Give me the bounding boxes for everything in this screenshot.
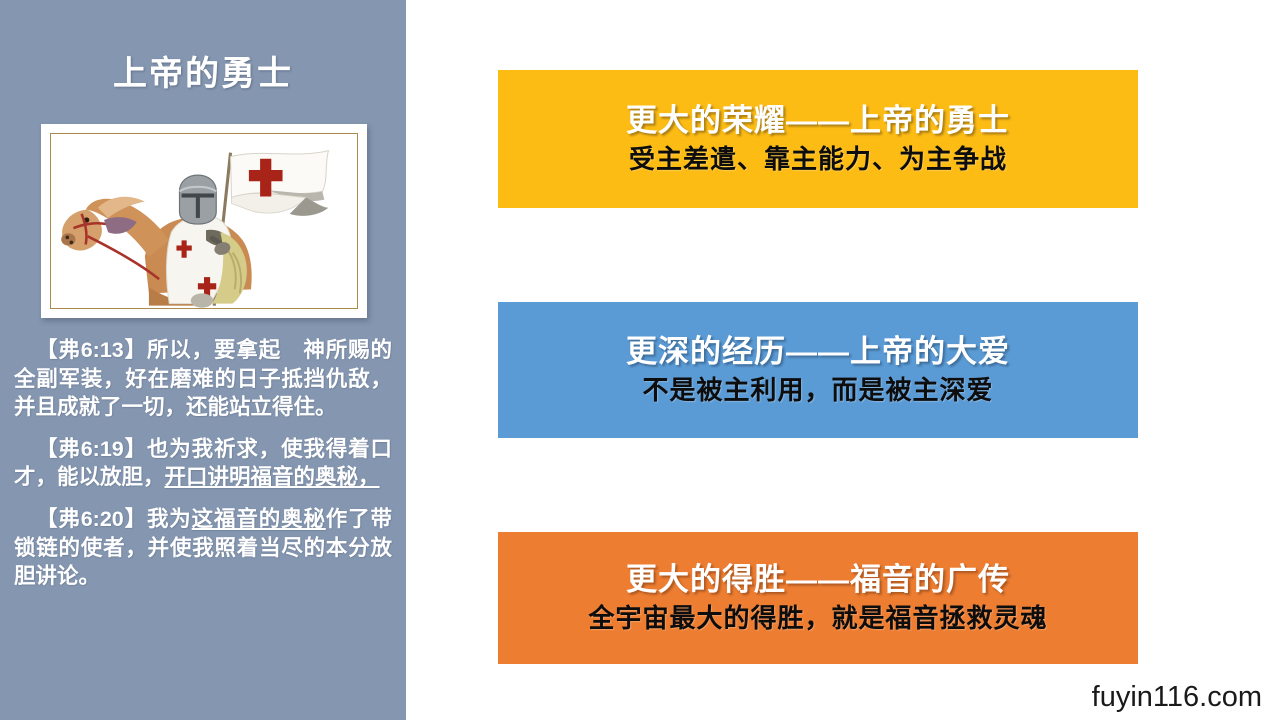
banner-victory: 更大的得胜——福音的广传 全宇宙最大的得胜，就是福音拯救灵魂 bbox=[498, 532, 1138, 664]
banner-victory-subheading: 全宇宙最大的得胜，就是福音拯救灵魂 bbox=[588, 604, 1047, 633]
verse-eph-6-13: 【弗6:13】所以，要拿起 神所赐的全副军装，好在磨难的日子抵挡仇敌，并且成就了… bbox=[14, 336, 392, 422]
banner-experience-subheading: 不是被主利用，而是被主深爱 bbox=[642, 376, 993, 405]
page-title: 上帝的勇士 bbox=[0, 56, 406, 93]
verse-segment: 【弗6:20】我为 bbox=[36, 507, 192, 531]
crusader-knight-icon bbox=[51, 134, 357, 308]
banner-glory-subheading: 受主差遣、靠主能力、为主争战 bbox=[629, 145, 1007, 174]
verse-segment-underlined: 开口讲明福音的奥秘， bbox=[165, 465, 380, 489]
scripture-verse-list: 【弗6:13】所以，要拿起 神所赐的全副军装，好在磨难的日子抵挡仇敌，并且成就了… bbox=[6, 336, 400, 591]
banner-experience: 更深的经历——上帝的大爱 不是被主利用，而是被主深爱 bbox=[498, 302, 1138, 438]
verse-eph-6-19: 【弗6:19】也为我祈求，使我得着口才，能以放胆，开口讲明福音的奥秘， bbox=[14, 435, 392, 492]
banner-experience-heading: 更深的经历——上帝的大爱 bbox=[626, 335, 1010, 370]
knight-picture-inner-border bbox=[50, 133, 358, 309]
slide-canvas: 上帝的勇士 bbox=[0, 0, 1280, 720]
banner-glory: 更大的荣耀——上帝的勇士 受主差遣、靠主能力、为主争战 bbox=[498, 70, 1138, 208]
verse-segment-underlined: 这福音的奥秘 bbox=[192, 507, 326, 531]
verse-segment: 【弗6:13】所以，要拿起 神所赐的全副军装，好在磨难的日子抵挡仇敌，并且成就了… bbox=[14, 338, 392, 419]
knight-picture-frame bbox=[41, 124, 367, 318]
banner-victory-heading: 更大的得胜——福音的广传 bbox=[626, 563, 1010, 598]
site-watermark: fuyin116.com bbox=[1092, 681, 1262, 714]
sidebar-panel: 上帝的勇士 bbox=[0, 0, 406, 720]
banner-glory-heading: 更大的荣耀——上帝的勇士 bbox=[626, 104, 1010, 139]
verse-eph-6-20: 【弗6:20】我为这福音的奥秘作了带锁链的使者，并使我照着当尽的本分放胆讲论。 bbox=[14, 505, 392, 591]
